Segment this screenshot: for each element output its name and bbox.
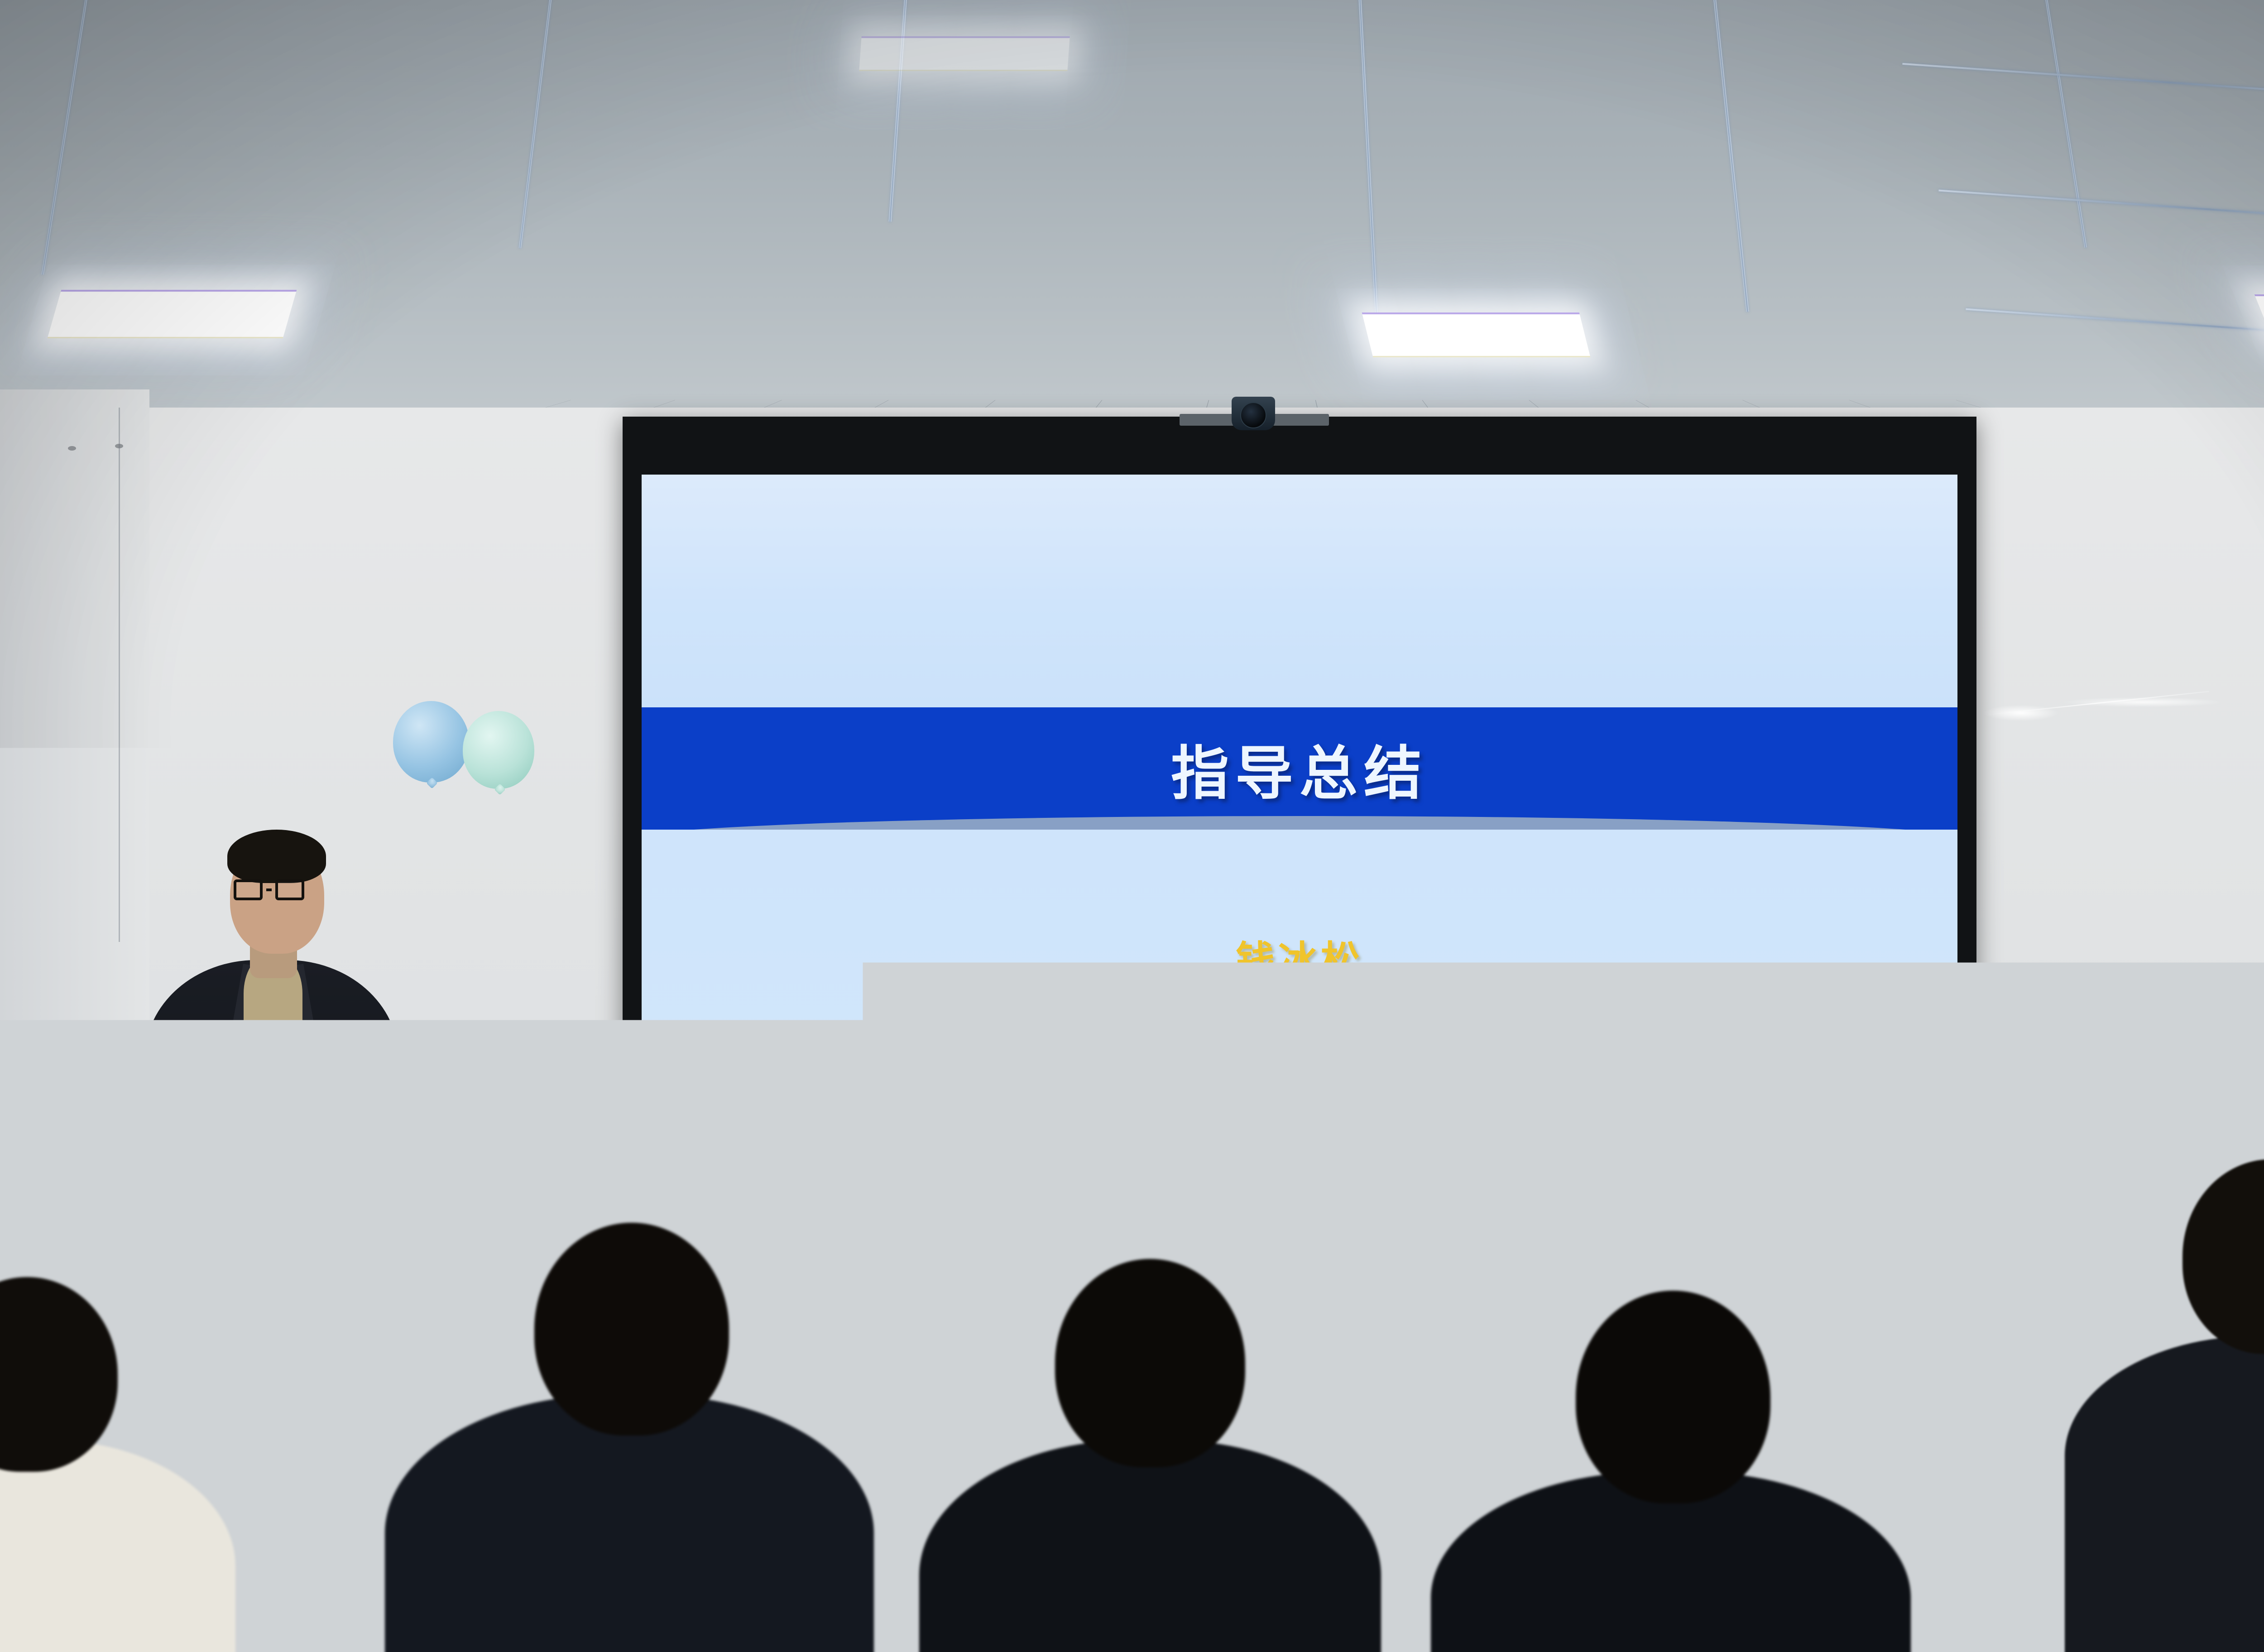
slide-title-band: 指导总结 bbox=[642, 707, 1957, 830]
wall-fixing-dot bbox=[115, 444, 123, 448]
attendee-head bbox=[1055, 1259, 1245, 1467]
ceiling-camera-icon bbox=[1232, 397, 1275, 430]
wall-fixing-dot bbox=[68, 446, 76, 451]
ceiling-rail bbox=[1902, 63, 2264, 102]
attendee-head bbox=[1630, 1119, 1734, 1232]
ceiling-rail bbox=[1713, 0, 1749, 312]
ceiling-light-panel bbox=[859, 36, 1070, 71]
slide-title: 指导总结 bbox=[1171, 726, 1428, 810]
slide-footer: 武汉理工大学交通与物流工程学院 School of Transportation… bbox=[642, 1068, 1957, 1087]
slide-top-area bbox=[642, 475, 1957, 707]
balloon-blue bbox=[393, 701, 469, 783]
presenter-hair bbox=[227, 830, 326, 883]
university-logo-block: 武汉理工大学交通与物流工程学院 School of Transportation… bbox=[642, 1068, 1054, 1087]
classroom-scene: 指导总结 钱冰松 余区管委会副主任 武汉理工大学交通与物流工程学院 School… bbox=[0, 0, 2264, 1652]
ceiling-rail bbox=[519, 0, 552, 248]
attendee-hair-bun bbox=[1196, 1033, 1251, 1072]
projection-surface: 指导总结 钱冰松 余区管委会副主任 武汉理工大学交通与物流工程学院 School… bbox=[642, 475, 1957, 1087]
wall-seam bbox=[119, 408, 120, 942]
university-seal-icon bbox=[649, 1067, 675, 1087]
attendee-head bbox=[534, 1223, 729, 1436]
attendee-head bbox=[811, 1119, 915, 1232]
attendee-torso bbox=[100, 1196, 353, 1449]
ceiling-light-panel bbox=[1362, 312, 1591, 357]
ceiling bbox=[0, 0, 2264, 435]
presentation-slide: 指导总结 钱冰松 余区管委会副主任 武汉理工大学交通与物流工程学院 School… bbox=[642, 475, 1957, 1087]
attendee-torso bbox=[743, 1209, 978, 1445]
ceiling-rail bbox=[889, 0, 907, 222]
balloon-mint bbox=[463, 711, 534, 789]
projector-screen-frame: 指导总结 钱冰松 余区管委会副主任 武汉理工大学交通与物流工程学院 School… bbox=[623, 417, 1976, 1105]
camera-lens-icon bbox=[1240, 402, 1266, 428]
university-name-cn: 武汉理工大学交通与物流工程学院 bbox=[681, 1071, 885, 1084]
ceiling-rail bbox=[42, 0, 88, 275]
ceiling-light-panel bbox=[2254, 294, 2264, 342]
attendee-head bbox=[1780, 1042, 1872, 1139]
ceiling-rail bbox=[1358, 0, 1379, 340]
attendee-head bbox=[1576, 1291, 1770, 1503]
attendee-hair bbox=[1926, 1075, 2022, 1129]
ceiling-rail bbox=[1966, 308, 2264, 346]
attendee-hair-bun bbox=[1503, 1193, 1540, 1226]
university-logo-text: 武汉理工大学交通与物流工程学院 School of Transportation… bbox=[681, 1071, 885, 1087]
ceiling-light-panel bbox=[48, 290, 297, 338]
attendee-head bbox=[177, 1096, 285, 1214]
attendee-head bbox=[1037, 1155, 1134, 1261]
attendee-head bbox=[1123, 1105, 1209, 1196]
speaker-name: 钱冰松 bbox=[1236, 928, 1363, 985]
attendee-torso bbox=[1345, 1214, 1598, 1458]
university-name-en: School of Transportation and Logistics E… bbox=[681, 1084, 885, 1087]
attendee-torso bbox=[1875, 1168, 2101, 1359]
slide-body: 钱冰松 余区管委会副主任 武汉理工大学交通与物流工程学院 School of T… bbox=[642, 830, 1957, 1087]
ceiling-rail bbox=[1938, 189, 2264, 229]
ceiling-rail bbox=[2045, 0, 2087, 248]
wall-ribbon-decoration bbox=[1965, 679, 2219, 734]
presenter-glasses-icon bbox=[234, 879, 304, 900]
